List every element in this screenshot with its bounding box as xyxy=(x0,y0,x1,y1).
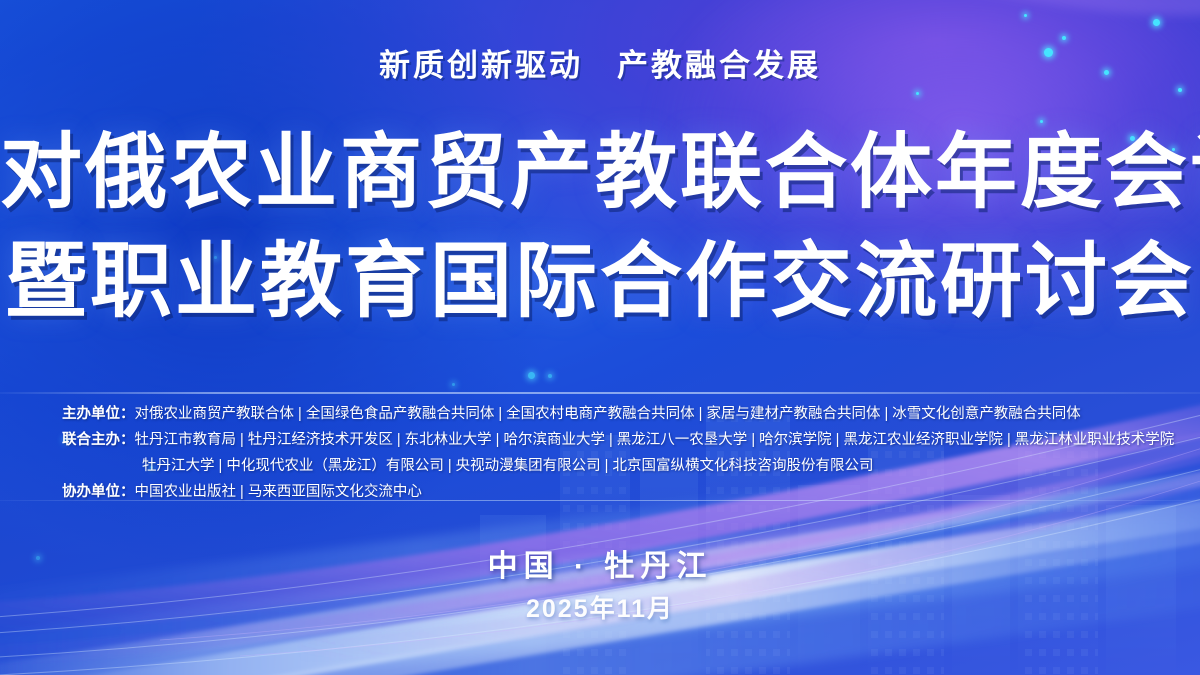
support-label: 协办单位： xyxy=(62,484,135,500)
banner-subtitle: 新质创新驱动 产教融合发展 xyxy=(0,40,1200,85)
host-label: 主办单位： xyxy=(62,406,135,422)
co-host-text-continued: 牡丹江大学 | 中化现代农业（黑龙江）有限公司 | 央视动漫集团有限公司 | 北… xyxy=(62,453,873,479)
host-text: 对俄农业商贸产教联合体 | 全国绿色食品产教融合共同体 | 全国农村电商产教融合… xyxy=(135,406,1081,422)
co-host-text: 牡丹江市教育局 | 牡丹江经济技术开发区 | 东北林业大学 | 哈尔滨商业大学 … xyxy=(135,432,1175,448)
conference-banner: 新质创新驱动 产教融合发展 对俄农业商贸产教联合体年度会议 暨职业教育国际合作交… xyxy=(0,0,1200,675)
event-location: 中国 · 牡丹江 xyxy=(0,541,1200,585)
title-line-2: 暨职业教育国际合作交流研讨会 xyxy=(0,227,1200,336)
host-row: 主办单位：对俄农业商贸产教联合体 | 全国绿色食品产教融合共同体 | 全国农村电… xyxy=(62,401,1154,427)
event-date: 2025年11月 xyxy=(0,589,1200,625)
title-line-1: 对俄农业商贸产教联合体年度会议 xyxy=(0,118,1200,227)
co-host-row-continued: 牡丹江大学 | 中化现代农业（黑龙江）有限公司 | 央视动漫集团有限公司 | 北… xyxy=(62,453,1154,479)
support-text: 中国农业出版社 | 马来西亚国际文化交流中心 xyxy=(135,484,422,500)
co-host-label: 联合主办： xyxy=(62,432,135,448)
organizers-block: 主办单位：对俄农业商贸产教联合体 | 全国绿色食品产教融合共同体 | 全国农村电… xyxy=(62,401,1154,505)
banner-title: 对俄农业商贸产教联合体年度会议 暨职业教育国际合作交流研讨会 xyxy=(0,118,1200,336)
support-row: 协办单位：中国农业出版社 | 马来西亚国际文化交流中心 xyxy=(62,479,1154,505)
co-host-row: 联合主办：牡丹江市教育局 | 牡丹江经济技术开发区 | 东北林业大学 | 哈尔滨… xyxy=(62,427,1154,453)
